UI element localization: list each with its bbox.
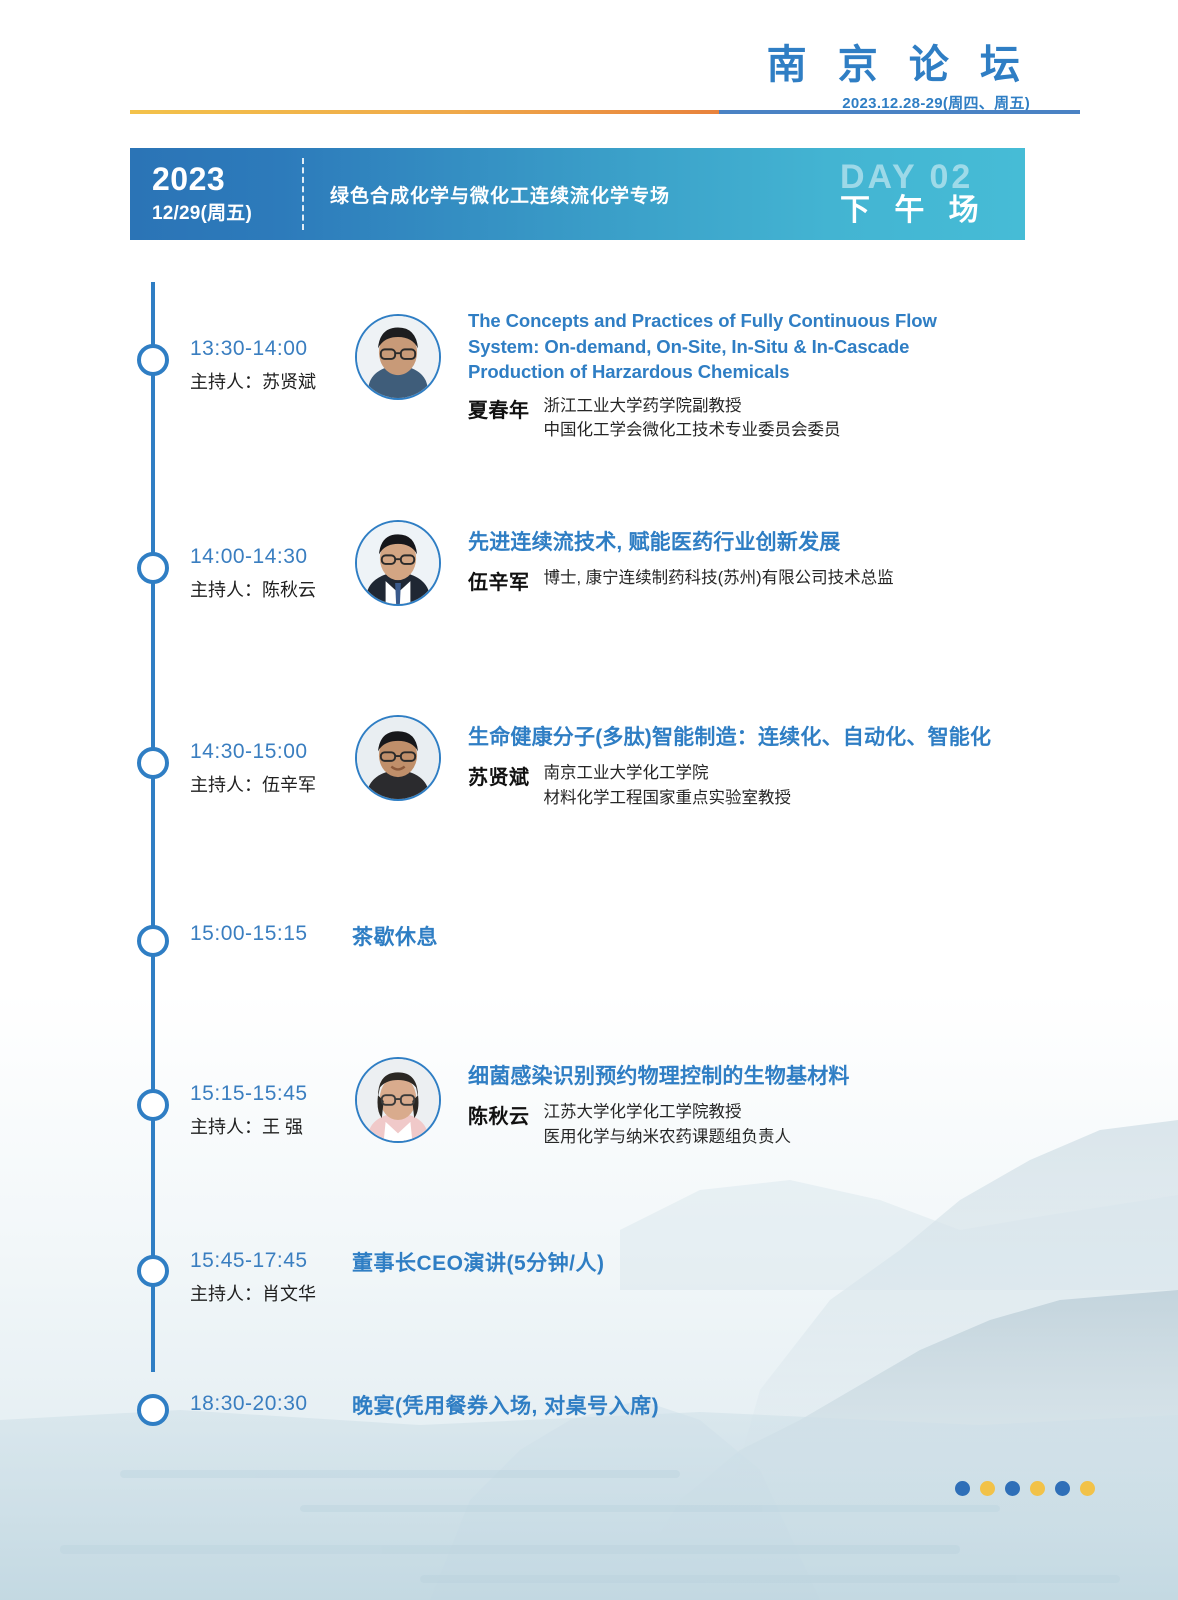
page-dot[interactable]	[1005, 1481, 1020, 1496]
speaker-name: 夏春年	[468, 394, 530, 423]
banner-date: 12/29(周五)	[152, 198, 302, 225]
talk-title: The Concepts and Practices of Fully Cont…	[468, 308, 1118, 385]
banner-day-block: DAY 02 下 午 场	[840, 160, 1025, 228]
timeline-node-icon	[137, 747, 169, 779]
banner-topic: 绿色合成化学与微化工连续流化学专场	[330, 181, 840, 208]
agenda-time-block: 15:15-15:45 主持人：王 强	[190, 1082, 340, 1139]
speaker-name: 伍辛军	[468, 566, 530, 595]
speaker-name: 陈秋云	[468, 1100, 530, 1129]
agenda-time: 18:30-20:30	[190, 1392, 340, 1416]
agenda-content: The Concepts and Practices of Fully Cont…	[468, 308, 1118, 443]
agenda-host: 主持人：王 强	[190, 1113, 340, 1139]
brand-title: 南 京 论 坛	[767, 44, 1030, 86]
agenda-time-block: 14:30-15:00 主持人：伍辛军	[190, 740, 340, 797]
speaker-affiliation-line: 博士, 康宁连续制药科技(苏州)有限公司技术总监	[544, 566, 894, 591]
agenda-row[interactable]: 15:45-17:45 主持人：肖文华 董事长CEO演讲(5分钟/人)	[0, 1217, 1178, 1352]
page-dot[interactable]	[955, 1481, 970, 1496]
agenda-time: 13:30-14:00	[190, 337, 340, 361]
agenda-content: 先进连续流技术, 赋能医药行业创新发展 伍辛军 博士, 康宁连续制药科技(苏州)…	[468, 529, 1118, 595]
agenda-label: 董事长CEO演讲(5分钟/人)	[352, 1247, 605, 1277]
speaker-portrait-icon	[357, 316, 439, 398]
speaker-affiliation-line: 医用化学与纳米农药课题组负责人	[544, 1125, 792, 1150]
speaker-affiliation-line: 中国化工学会微化工技术专业委员会委员	[544, 418, 841, 443]
agenda-label: 茶歇休息	[352, 921, 438, 951]
page-dot[interactable]	[1055, 1481, 1070, 1496]
speaker-affiliation: 江苏大学化学化工学院教授 医用化学与纳米农药课题组负责人	[544, 1100, 792, 1150]
banner-year: 2023	[152, 163, 302, 197]
speaker-avatar	[355, 520, 441, 606]
talk-title-line: System: On-demand, On-Site, In-Situ & In…	[468, 334, 1118, 360]
speaker-avatar	[355, 314, 441, 400]
agenda-time-block: 13:30-14:00 主持人：苏贤斌	[190, 337, 340, 394]
agenda-row[interactable]: 15:15-15:45 主持人：王 强 细菌感染识别预约	[0, 1027, 1178, 1217]
timeline-node-icon	[137, 1394, 169, 1426]
speaker-block: 伍辛军 博士, 康宁连续制药科技(苏州)有限公司技术总监	[468, 566, 1118, 595]
speaker-block: 陈秋云 江苏大学化学化工学院教授 医用化学与纳米农药课题组负责人	[468, 1100, 1118, 1150]
speaker-affiliation-line: 江苏大学化学化工学院教授	[544, 1100, 792, 1125]
talk-title: 细菌感染识别预约物理控制的生物基材料	[468, 1063, 1118, 1091]
agenda-row[interactable]: 15:00-15:15 茶歇休息	[0, 877, 1178, 1027]
agenda-row[interactable]: 18:30-20:30 晚宴(凭用餐券入场, 对桌号入席)	[0, 1352, 1178, 1472]
session-banner: 2023 12/29(周五) 绿色合成化学与微化工连续流化学专场 DAY 02 …	[130, 148, 1025, 240]
agenda-time: 15:15-15:45	[190, 1082, 340, 1106]
timeline-node-icon	[137, 344, 169, 376]
speaker-block: 苏贤斌 南京工业大学化工学院 材料化学工程国家重点实验室教授	[468, 761, 1118, 811]
agenda-timeline: 13:30-14:00 主持人：苏贤斌 The Concepts and Pra…	[0, 282, 1178, 1472]
speaker-block: 夏春年 浙江工业大学药学院副教授 中国化工学会微化工技术专业委员会委员	[468, 394, 1118, 444]
talk-title: 生命健康分子(多肽)智能制造：连续化、自动化、智能化	[468, 724, 1118, 752]
accent-rule-warm-segment	[130, 110, 719, 114]
speaker-portrait-icon	[357, 717, 439, 799]
agenda-host: 主持人：肖文华	[190, 1280, 340, 1306]
header-accent-rule	[130, 110, 1080, 114]
speaker-portrait-icon	[357, 522, 439, 604]
page-dot[interactable]	[980, 1481, 995, 1496]
page-dot[interactable]	[1030, 1481, 1045, 1496]
banner-dashed-divider	[302, 158, 304, 230]
banner-date-block: 2023 12/29(周五)	[130, 163, 302, 226]
timeline-node-icon	[137, 1089, 169, 1121]
agenda-time: 15:45-17:45	[190, 1249, 340, 1273]
agenda-time: 15:00-15:15	[190, 922, 340, 946]
agenda-time: 14:30-15:00	[190, 740, 340, 764]
talk-title-line: Production of Harzardous Chemicals	[468, 359, 1118, 385]
agenda-time-block: 15:00-15:15	[190, 922, 340, 946]
agenda-host: 主持人：陈秋云	[190, 576, 340, 602]
agenda-host: 主持人：伍辛军	[190, 771, 340, 797]
speaker-affiliation-line: 材料化学工程国家重点实验室教授	[544, 786, 792, 811]
speaker-avatar	[355, 715, 441, 801]
agenda-time-block: 18:30-20:30	[190, 1392, 340, 1416]
speaker-affiliation-line: 浙江工业大学药学院副教授	[544, 394, 841, 419]
accent-rule-cool-segment	[719, 110, 1080, 114]
agenda-row[interactable]: 14:30-15:00 主持人：伍辛军 生命健康分子(多肽)智能制造：连续化、自…	[0, 682, 1178, 877]
speaker-affiliation: 南京工业大学化工学院 材料化学工程国家重点实验室教授	[544, 761, 792, 811]
speaker-name: 苏贤斌	[468, 761, 530, 790]
agenda-host: 主持人：苏贤斌	[190, 368, 340, 394]
speaker-avatar	[355, 1057, 441, 1143]
agenda-time: 14:00-14:30	[190, 545, 340, 569]
agenda-content: 细菌感染识别预约物理控制的生物基材料 陈秋云 江苏大学化学化工学院教授 医用化学…	[468, 1063, 1118, 1150]
banner-day-number: DAY 02	[840, 160, 1011, 194]
timeline-node-icon	[137, 925, 169, 957]
timeline-node-icon	[137, 552, 169, 584]
agenda-row[interactable]: 13:30-14:00 主持人：苏贤斌 The Concepts and Pra…	[0, 282, 1178, 487]
speaker-affiliation-line: 南京工业大学化工学院	[544, 761, 792, 786]
timeline-node-icon	[137, 1255, 169, 1287]
speaker-portrait-icon	[357, 1059, 439, 1141]
banner-day-label: 下 午 场	[840, 194, 1011, 228]
agenda-label: 晚宴(凭用餐券入场, 对桌号入席)	[352, 1390, 659, 1420]
talk-title-line: The Concepts and Practices of Fully Cont…	[468, 308, 1118, 334]
masthead: 南 京 论 坛 2023.12.28-29(周四、周五)	[767, 44, 1030, 113]
agenda-time-block: 14:00-14:30 主持人：陈秋云	[190, 545, 340, 602]
agenda-content: 生命健康分子(多肽)智能制造：连续化、自动化、智能化 苏贤斌 南京工业大学化工学…	[468, 724, 1118, 811]
speaker-affiliation: 博士, 康宁连续制药科技(苏州)有限公司技术总监	[544, 566, 894, 591]
speaker-affiliation: 浙江工业大学药学院副教授 中国化工学会微化工技术专业委员会委员	[544, 394, 841, 444]
agenda-time-block: 15:45-17:45 主持人：肖文华	[190, 1249, 340, 1306]
talk-title: 先进连续流技术, 赋能医药行业创新发展	[468, 529, 1118, 557]
page-indicator-dots[interactable]	[955, 1481, 1095, 1496]
page-dot[interactable]	[1080, 1481, 1095, 1496]
agenda-row[interactable]: 14:00-14:30 主持人：陈秋云 先进连续流技术, 赋能医药行业创新发展	[0, 487, 1178, 682]
poster-page: 南 京 论 坛 2023.12.28-29(周四、周五) 2023 12/29(…	[0, 0, 1178, 1600]
